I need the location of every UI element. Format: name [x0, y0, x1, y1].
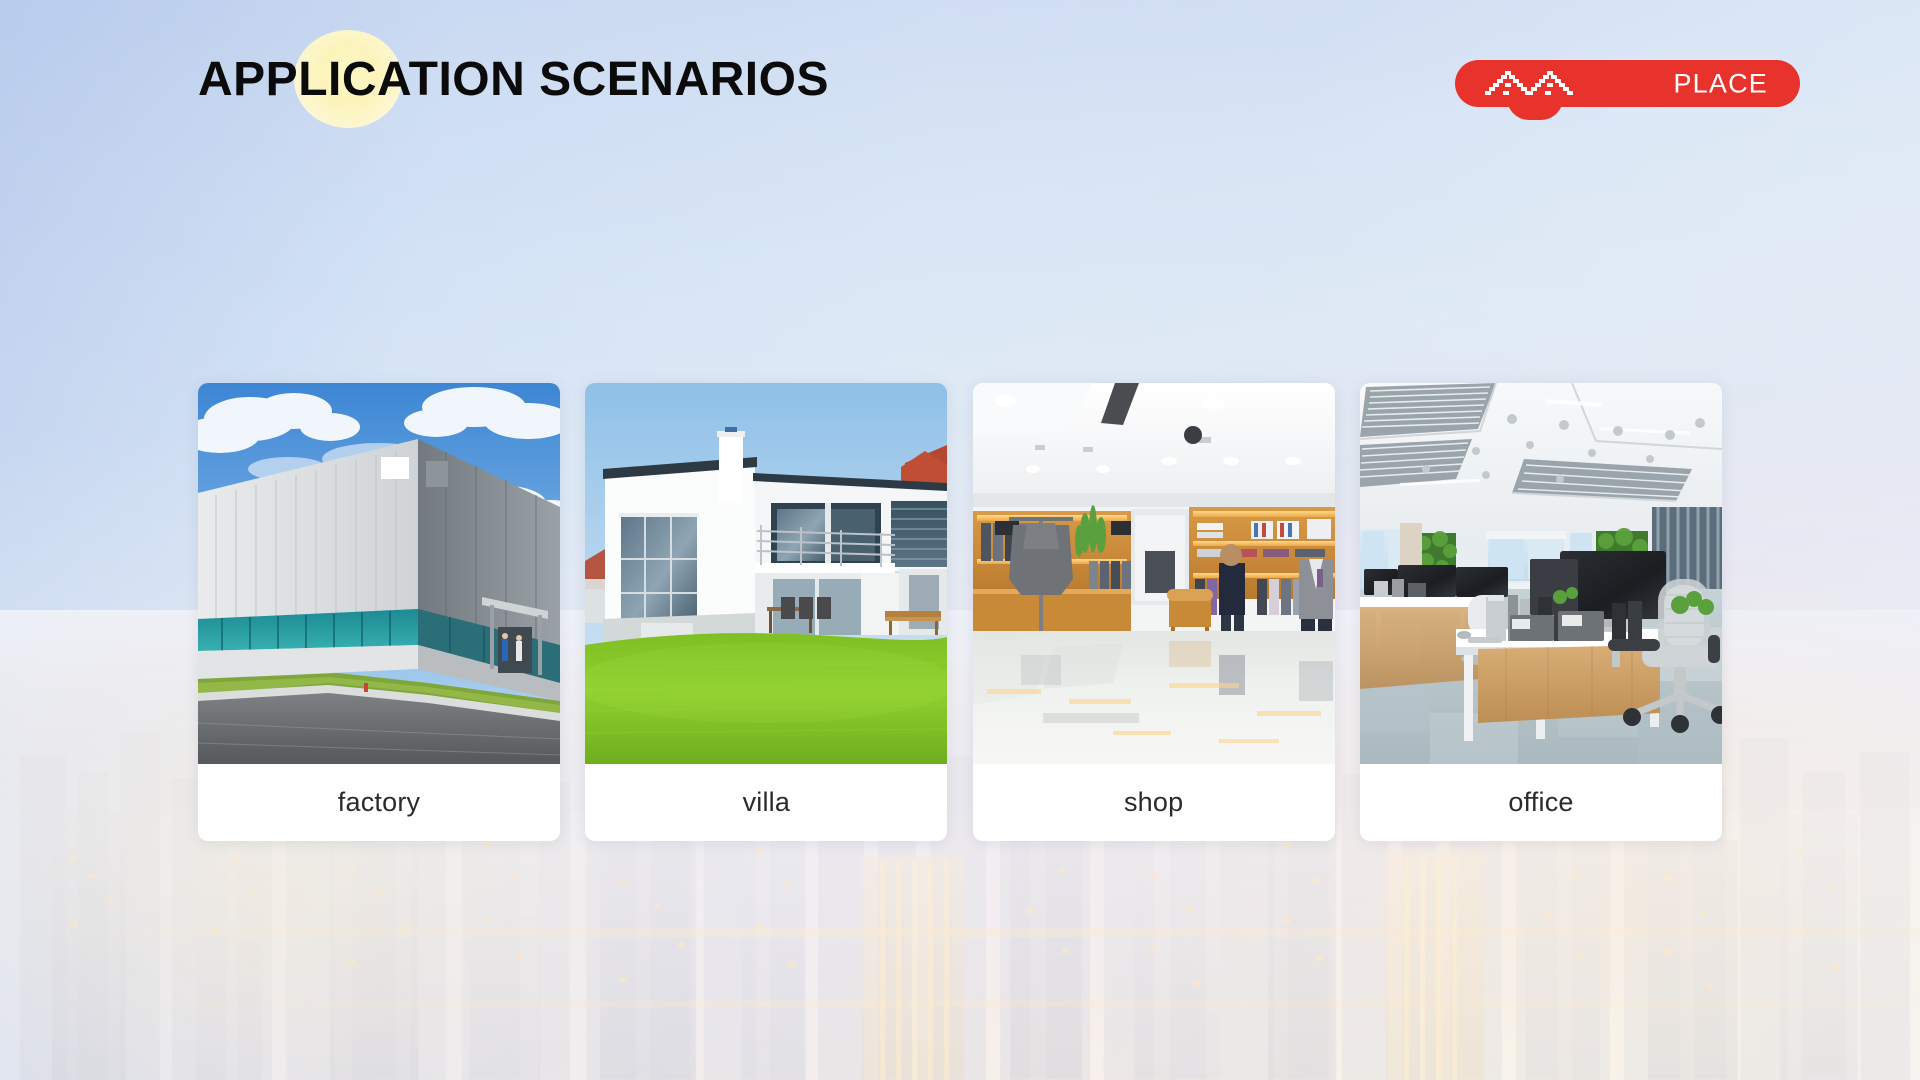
scenario-card-shop[interactable]: shop	[973, 383, 1335, 841]
office-interior-photo	[1360, 383, 1722, 764]
page-title-text: APPLICATION SCENARIOS	[198, 56, 829, 104]
retail-shop-photo	[973, 383, 1335, 764]
villa-house-photo	[585, 383, 947, 764]
slide-header: APPLICATION SCENARIOS	[0, 0, 1920, 170]
page-title: APPLICATION SCENARIOS	[198, 44, 829, 116]
scenario-card-label: villa	[585, 764, 947, 841]
scenario-card-label: factory	[198, 764, 560, 841]
scenario-card-grid: factory	[198, 383, 1722, 841]
factory-warehouse-photo	[198, 383, 560, 764]
scenario-card-label: office	[1360, 764, 1722, 841]
brand-badge-pill: PLACE	[1455, 60, 1800, 107]
brand-name-label: PLACE	[1673, 70, 1768, 97]
brand-badge: PLACE	[1455, 60, 1800, 107]
scenario-card-label: shop	[973, 764, 1335, 841]
scenario-card-villa[interactable]: villa	[585, 383, 947, 841]
scenario-card-factory[interactable]: factory	[198, 383, 560, 841]
pixel-mountains-icon	[1485, 69, 1573, 99]
scenario-card-office[interactable]: office	[1360, 383, 1722, 841]
slide-root: APPLICATION SCENARIOS	[0, 0, 1920, 1080]
